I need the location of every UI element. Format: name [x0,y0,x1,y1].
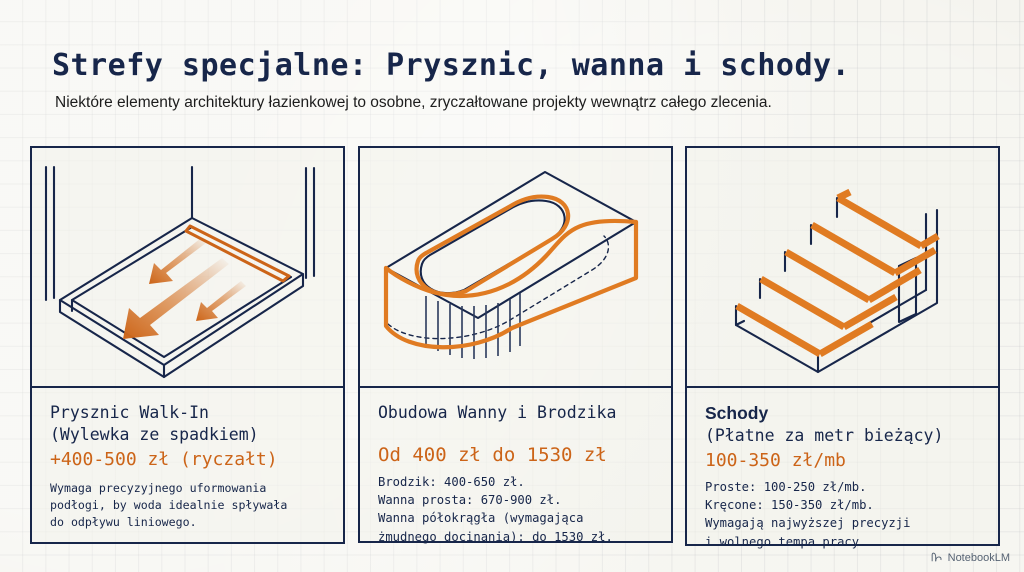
illustration-shower-tray [32,148,343,386]
card-heading-line2: (Płatne za metr bieżący) [705,425,982,447]
note-line: Kręcone: 150-350 zł/mb. [705,496,982,514]
note-line: i wolnego tempa pracy. [705,533,982,551]
page-title: Strefy specjalne: Prysznic, wanna i scho… [52,48,850,83]
illustration-staircase [687,148,998,386]
notebooklm-watermark: NotebookLM [930,551,1010,564]
note-line: Wanna prosta: 670-900 zł. [378,491,655,509]
note-line: podłogi, by woda idealnie spływała [50,497,327,514]
note-line: Wanna półokrągła (wymagająca [378,509,655,527]
note-line: do odpływu liniowego. [50,514,327,531]
notebooklm-spiral-icon [930,551,943,564]
note-line: Proste: 100-250 zł/mb. [705,478,982,496]
note-line: Wymagają najwyższej precyzji [705,514,982,532]
card-price: Od 400 zł do 1530 zł [378,444,655,466]
card-price: 100-350 zł/mb [705,450,982,471]
card-notes: Brodzik: 400-650 zł. Wanna prosta: 670-9… [378,473,655,546]
page-subtitle: Niektóre elementy architektury łazienkow… [55,94,772,112]
card-heading-line2: (Wylewka ze spadkiem) [50,424,327,446]
card-prysznic-walk-in[interactable]: Prysznic Walk-In (Wylewka ze spadkiem) +… [30,146,345,544]
card-heading-line1: Obudowa Wanny i Brodzika [378,402,655,424]
note-line: żmudnego docinania): do 1530 zł. [378,528,655,546]
card-obudowa-wanny[interactable]: Obudowa Wanny i Brodzika Od 400 zł do 15… [358,146,673,543]
card-heading-line1: Schody [705,402,982,425]
watermark-label: NotebookLM [948,552,1010,564]
card-schody[interactable]: Schody (Płatne za metr bieżący) 100-350 … [685,146,1000,546]
card-heading-line1: Prysznic Walk-In [50,402,327,424]
card-notes: Proste: 100-250 zł/mb. Kręcone: 150-350 … [705,478,982,551]
illustration-bathtub [360,148,671,386]
note-line: Wymaga precyzyjnego uformowania [50,480,327,497]
note-line: Brodzik: 400-650 zł. [378,473,655,491]
card-notes: Wymaga precyzyjnego uformowania podłogi,… [50,480,327,532]
card-price: +400-500 zł (ryczałt) [50,449,327,470]
